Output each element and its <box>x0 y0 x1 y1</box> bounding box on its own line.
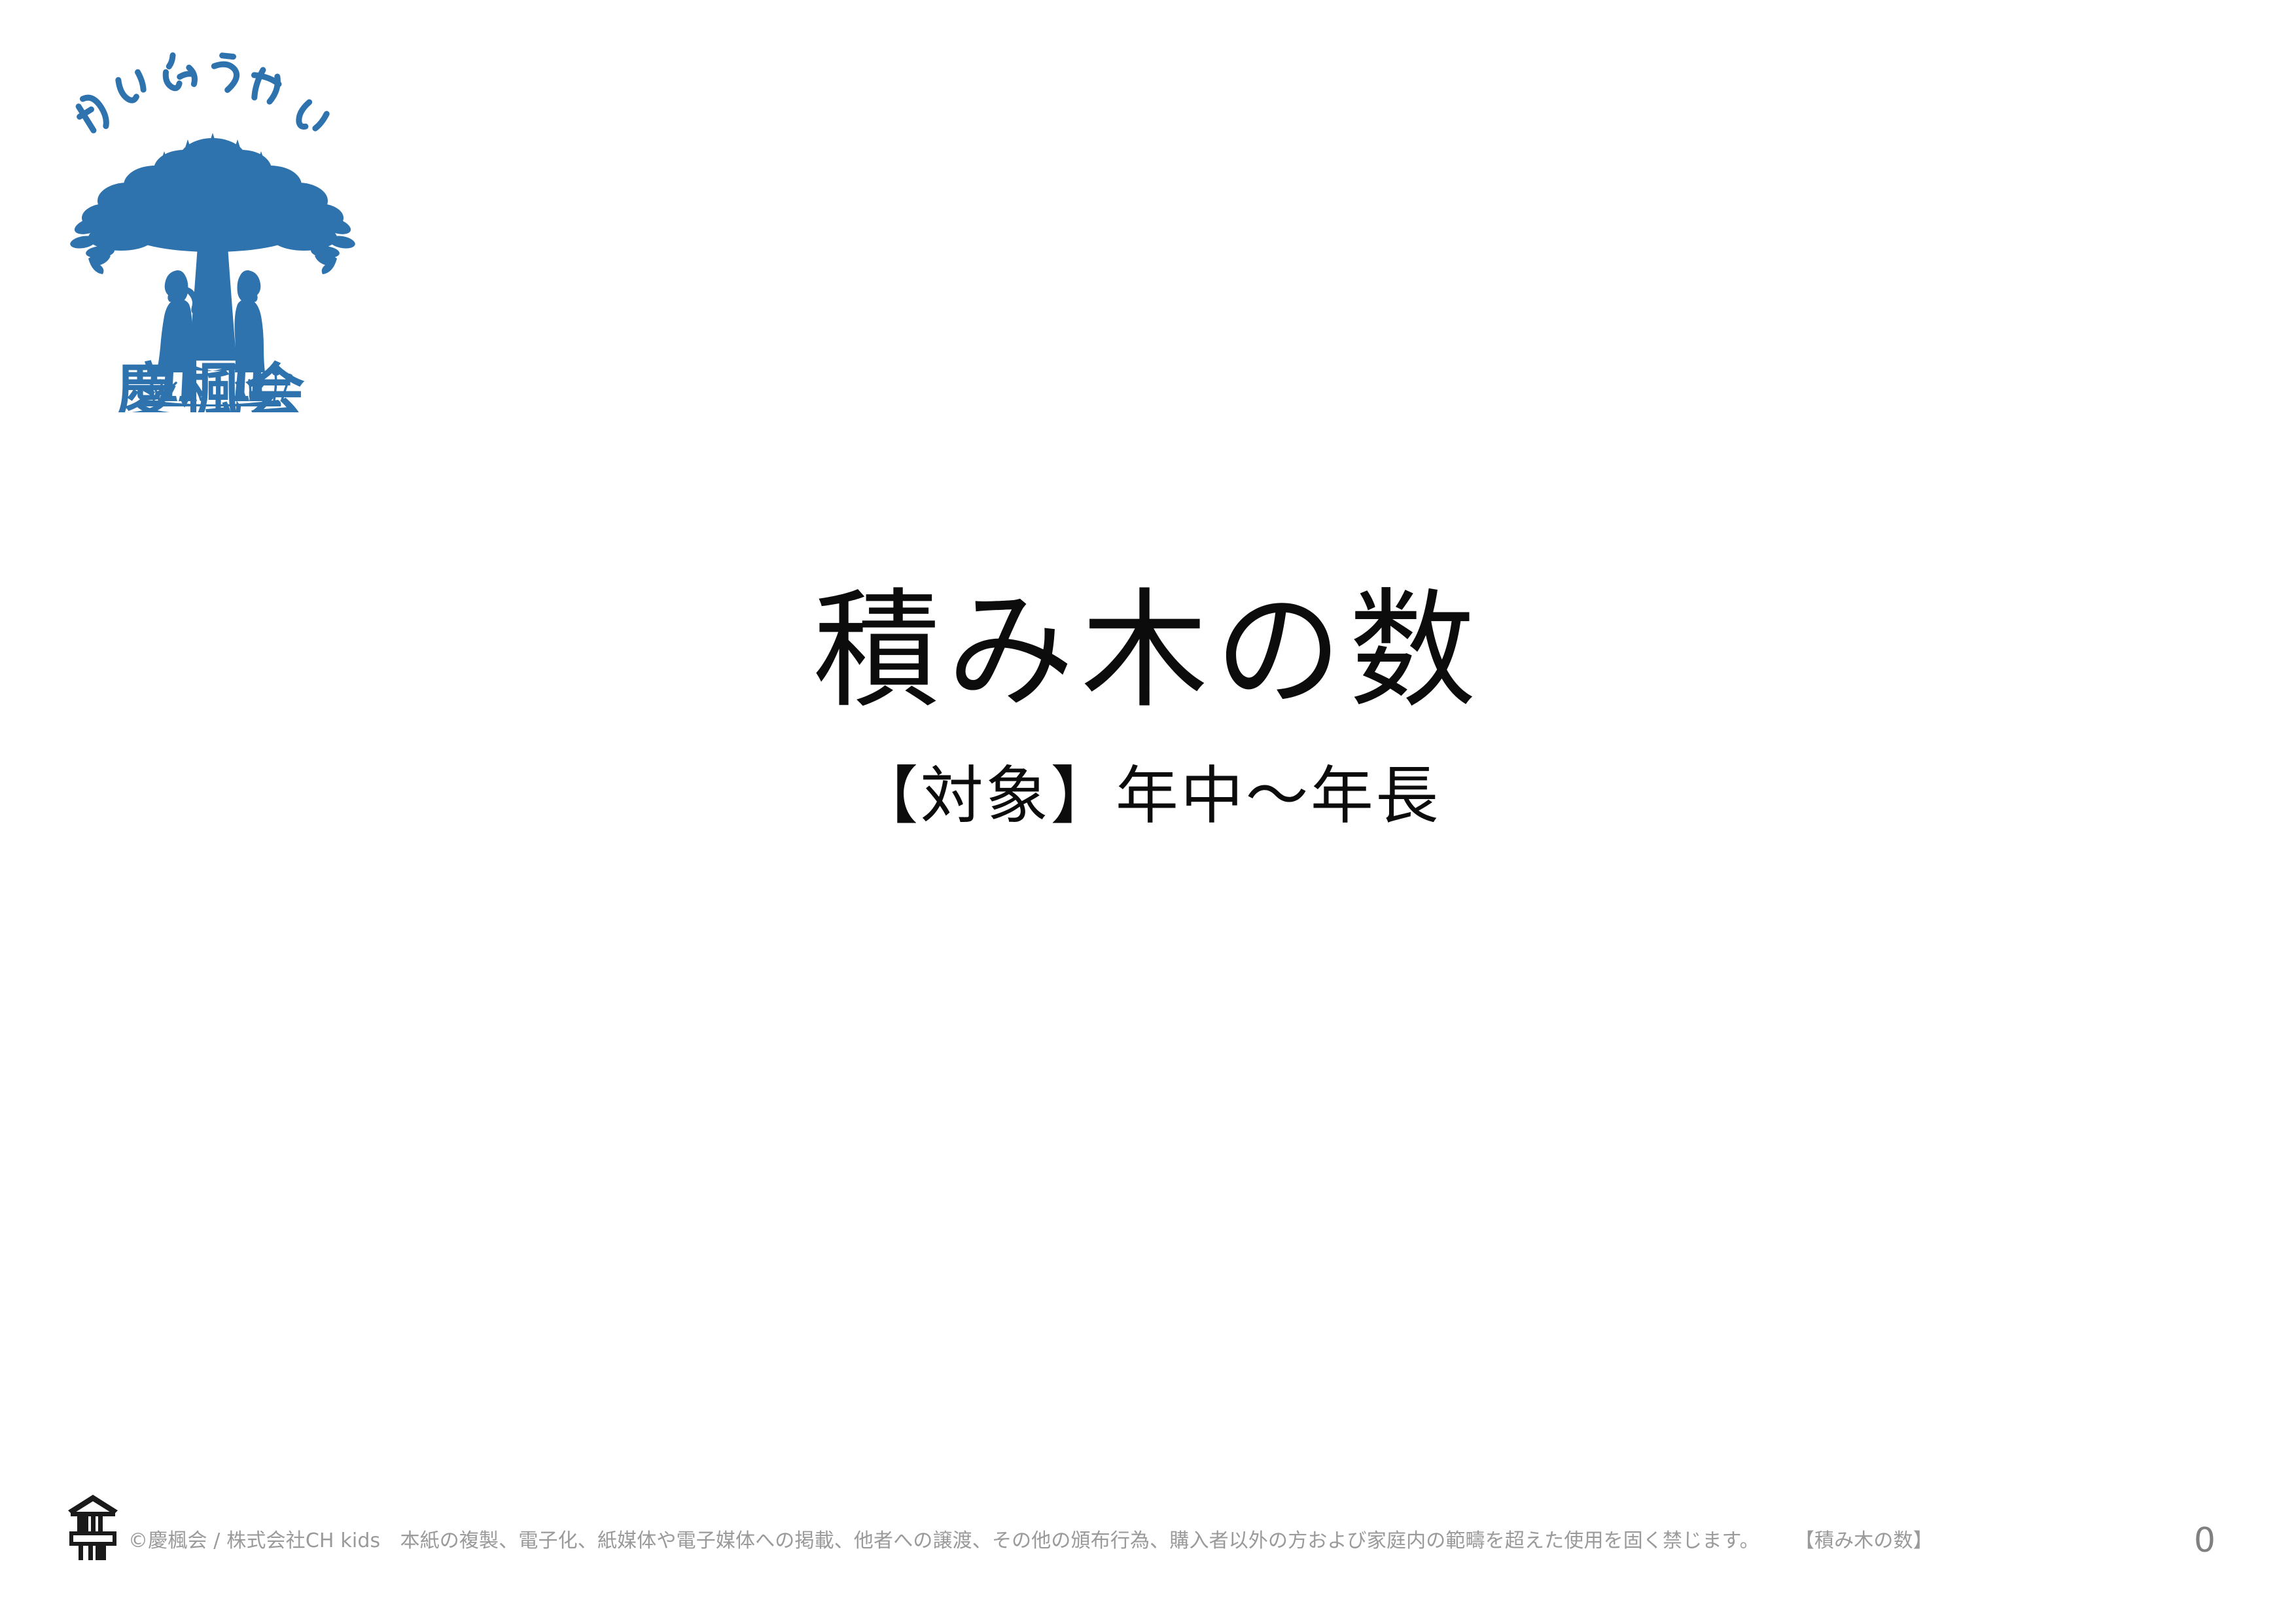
worksheet-page: けいふうかい <box>0 0 2296 1623</box>
lighthouse-icon <box>63 1493 123 1561</box>
document-tag: 【積み木の数】 <box>1795 1531 1933 1551</box>
keifukai-tree-logo: けいふうかい <box>49 29 376 412</box>
copyright-notice: ©慶楓会 / 株式会社CH kids 本紙の複製、電子化、紙媒体や電子媒体への掲… <box>128 1531 1759 1551</box>
footer-text-row: ©慶楓会 / 株式会社CH kids 本紙の複製、電子化、紙媒体や電子媒体への掲… <box>128 1531 1933 1551</box>
target-audience-subtitle: 【対象】年中〜年長 <box>0 758 2296 834</box>
logo-kanji-text: 慶楓会 <box>116 357 309 412</box>
svg-text:慶楓会: 慶楓会 <box>116 357 309 412</box>
page-footer: ©慶楓会 / 株式会社CH kids 本紙の複製、電子化、紙媒体や電子媒体への掲… <box>0 1487 2296 1565</box>
page-number: 0 <box>2194 1524 2216 1558</box>
page-title: 積み木の数 <box>12 576 2285 727</box>
logo-kana-text: けいふうかい <box>70 52 327 137</box>
title-area: 積み木の数 【対象】年中〜年長 <box>0 576 2296 834</box>
